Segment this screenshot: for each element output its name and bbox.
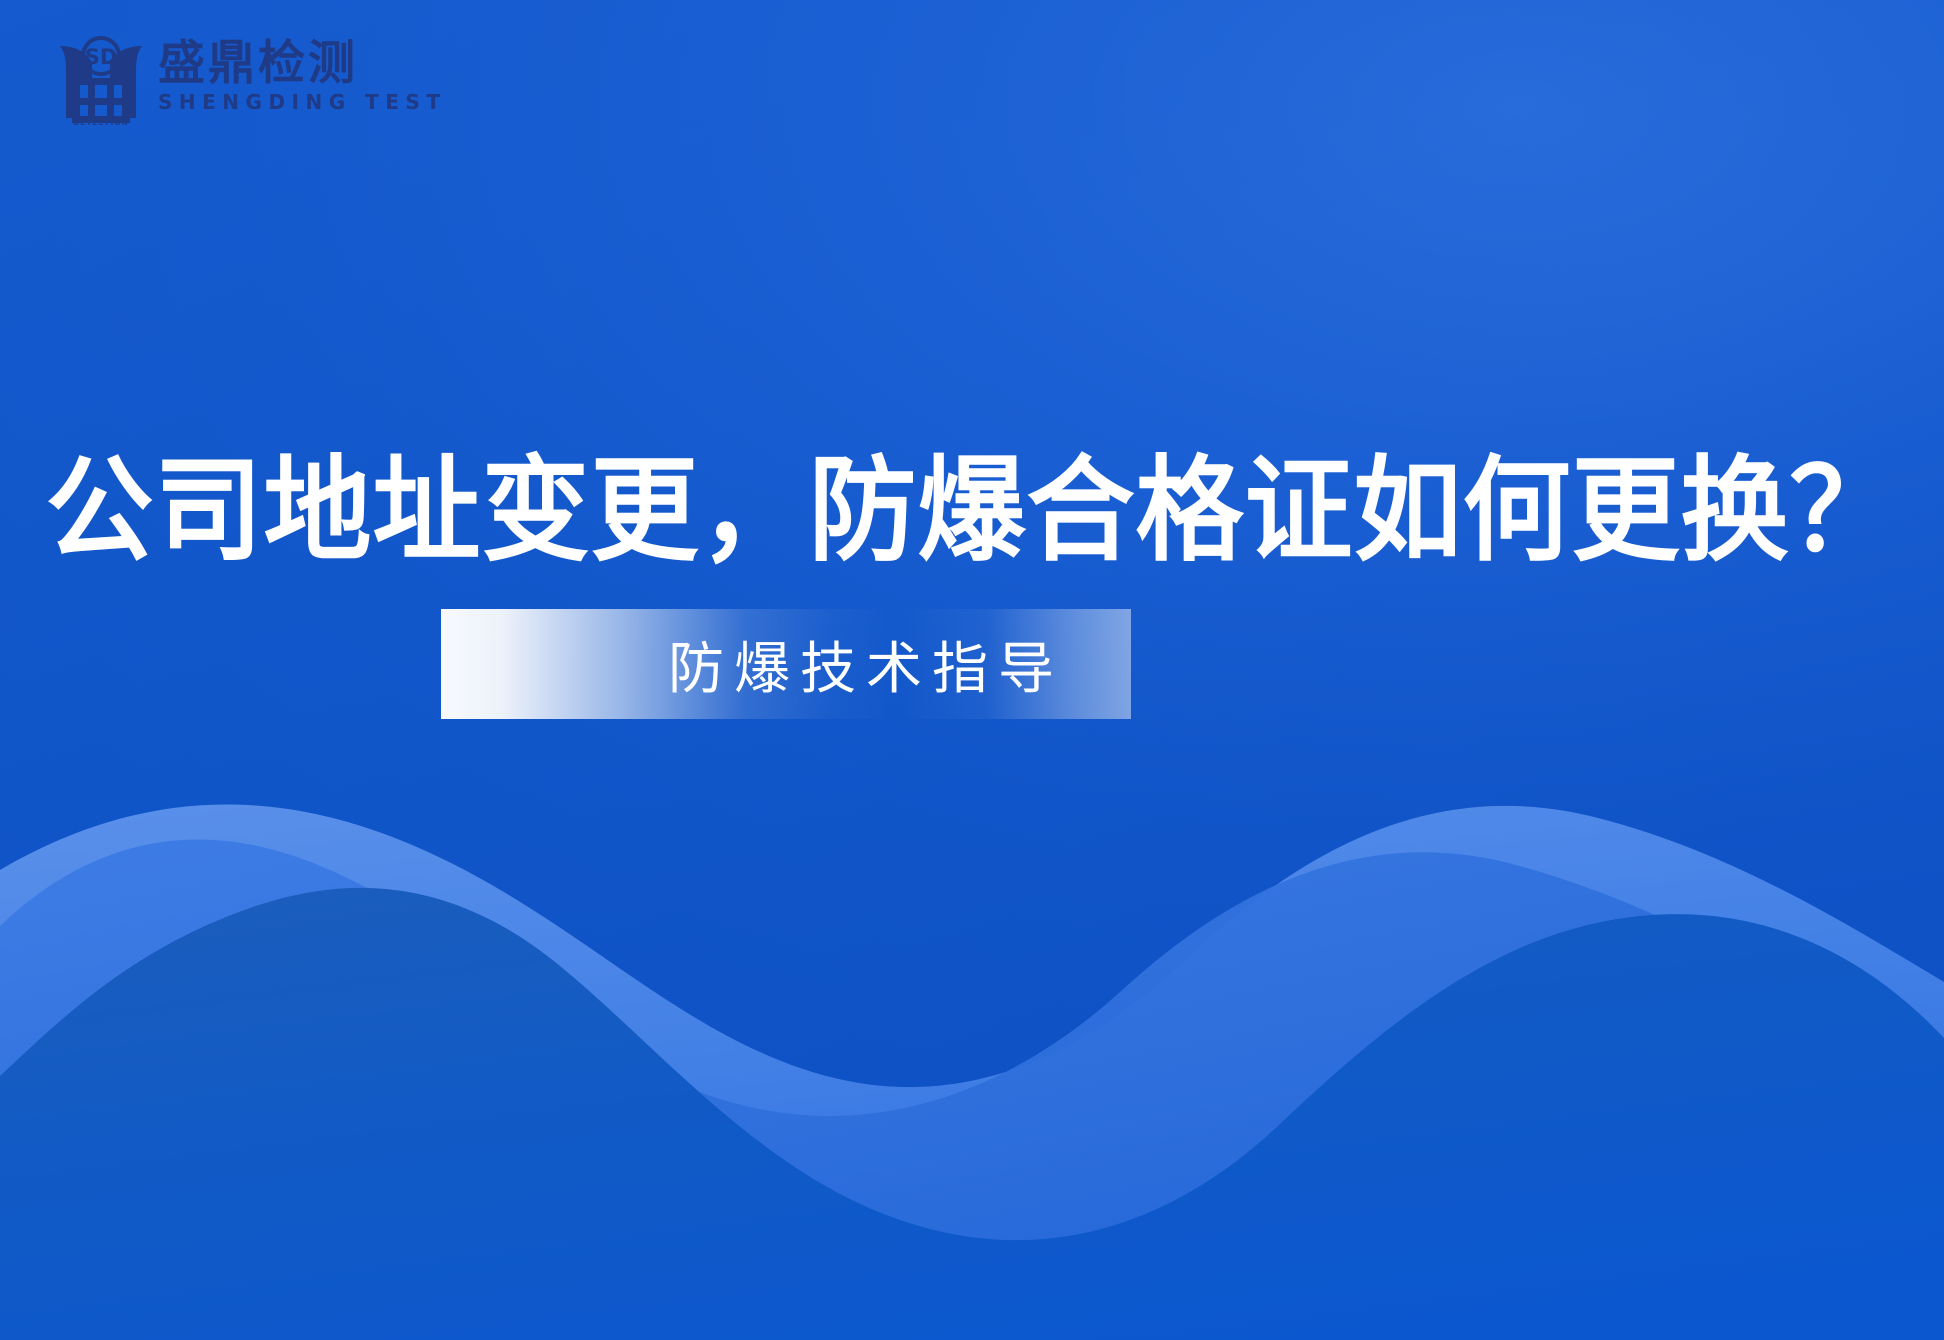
shengding-ding-vessel-emblem-icon: SD DETECTION — [58, 26, 144, 126]
logo-emblem-caption: DETECTION — [73, 119, 128, 126]
hero-subtitle-text: 防爆技术指导 — [658, 624, 1064, 705]
logo-monogram-text: SD — [85, 45, 118, 69]
brand-name-cn: 盛鼎检测 — [158, 40, 446, 88]
wave-decoration — [0, 720, 1944, 1340]
poster-canvas: SD DETECTION 盛鼎检测 SHENGDING TEST 公司地址变更，… — [0, 0, 1944, 1340]
brand-name-en: SHENGDING TEST — [158, 90, 446, 114]
brand-wordmark: 盛鼎检测 SHENGDING TEST — [158, 40, 446, 115]
hero-subtitle-band: 防爆技术指导 — [441, 609, 1131, 719]
hero-title: 公司地址变更，防爆合格证如何更换？ — [0, 444, 1944, 579]
brand-logo[interactable]: SD DETECTION 盛鼎检测 SHENGDING TEST — [58, 26, 378, 126]
